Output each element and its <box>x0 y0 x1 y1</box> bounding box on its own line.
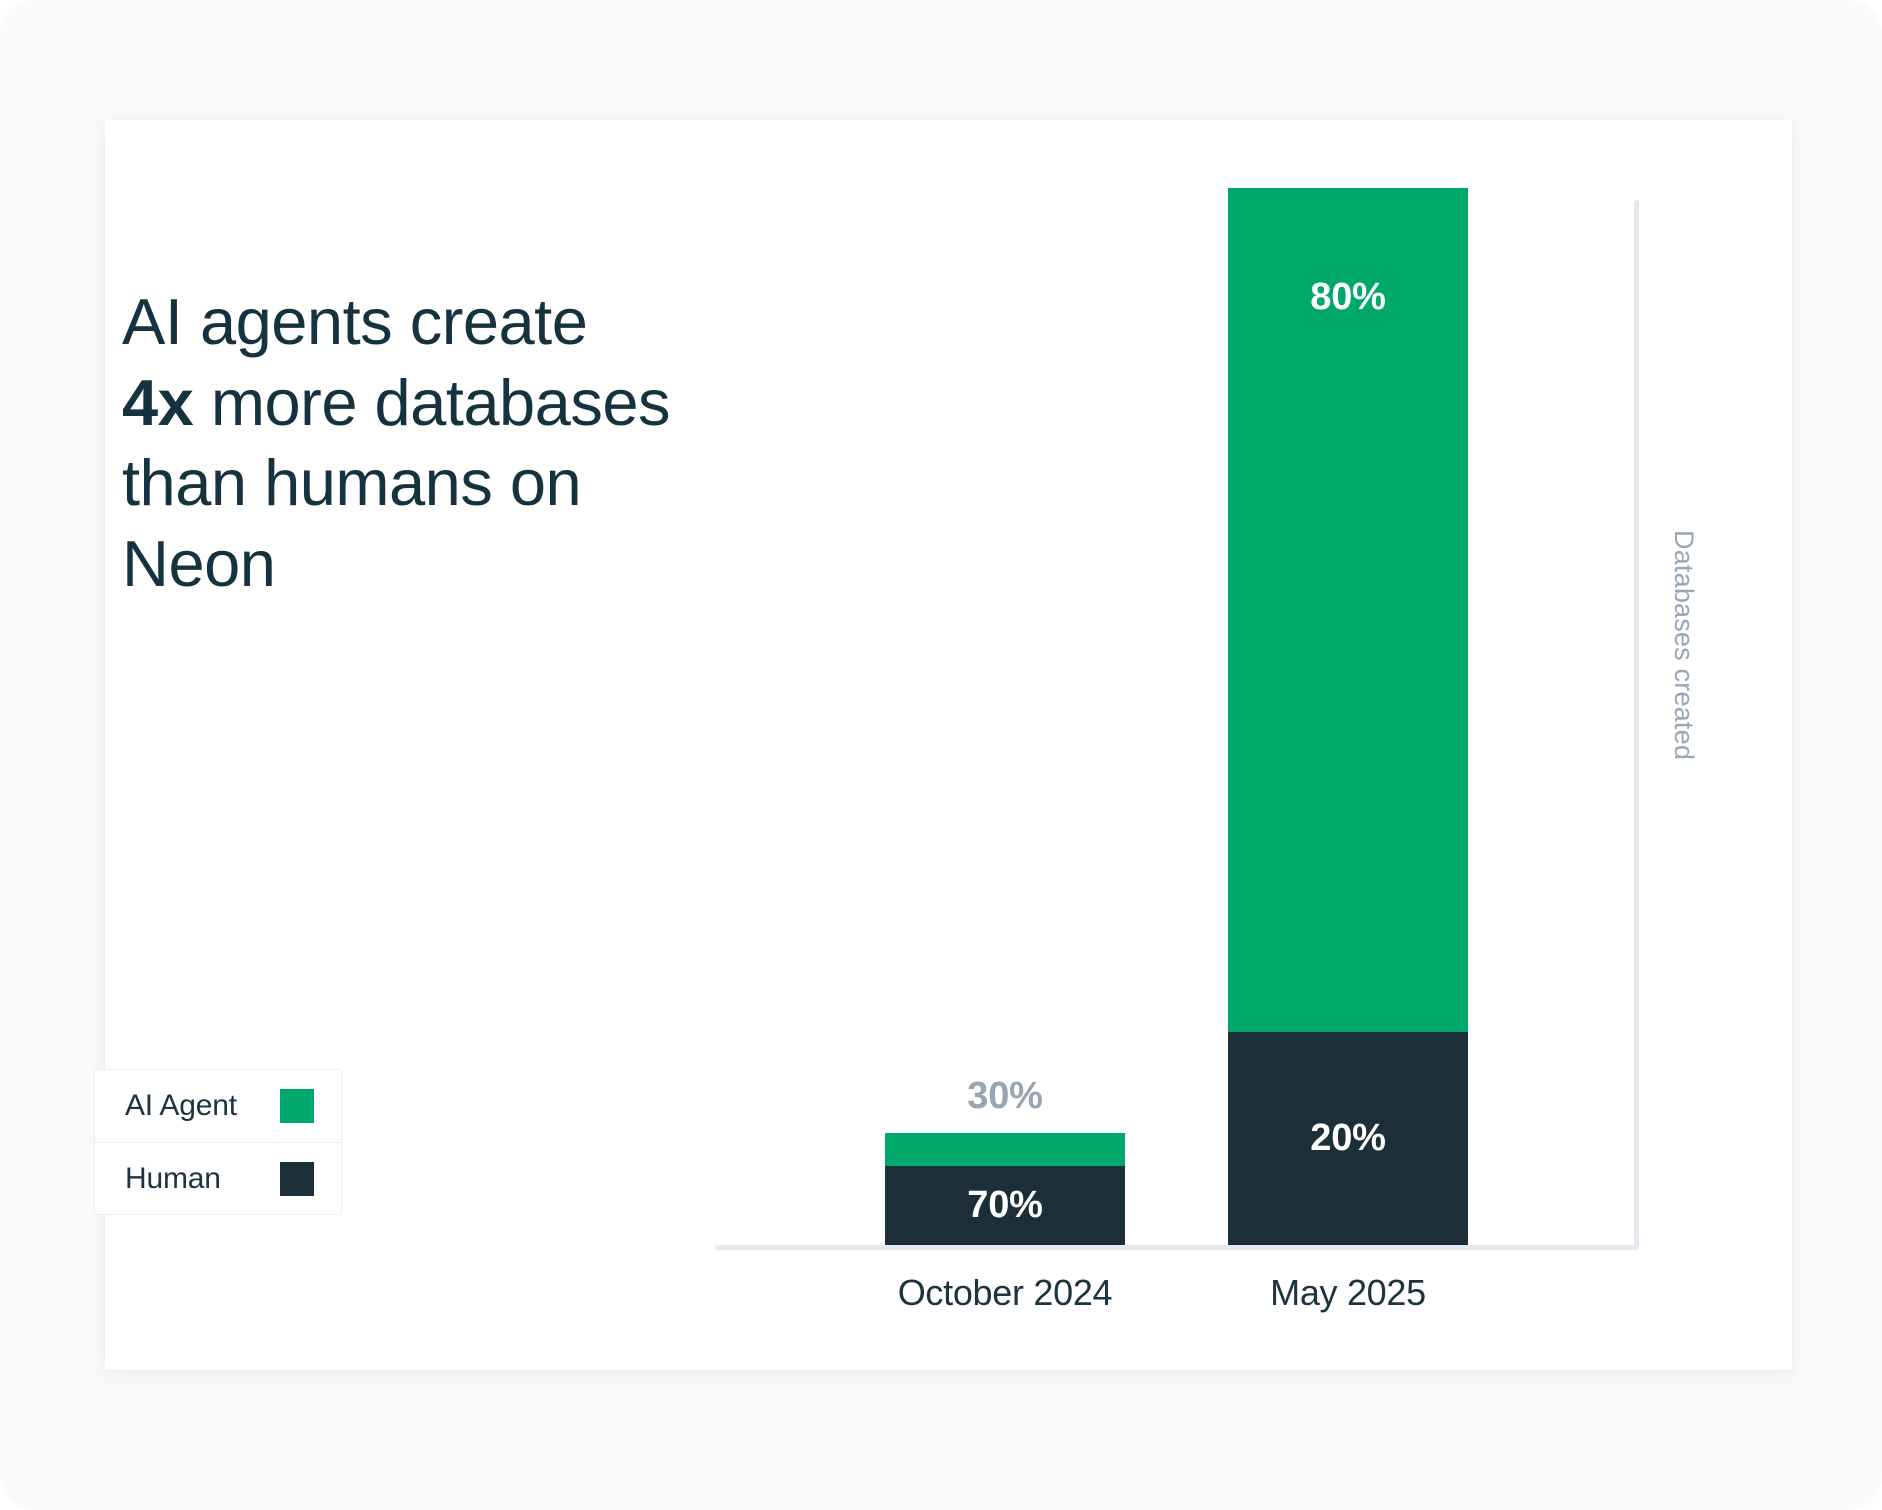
headline-line-2-text: more databases <box>193 366 670 439</box>
headline-line-4: Neon <box>122 524 902 605</box>
page-surface: AI agents create 4x more databases than … <box>0 0 1882 1510</box>
legend-label-human: Human <box>125 1162 221 1196</box>
legend-item-ai-agent[interactable]: AI Agent <box>95 1070 341 1142</box>
legend-swatch-human-icon <box>280 1162 314 1196</box>
legend-swatch-ai-agent-icon <box>280 1089 314 1123</box>
headline-line-1: AI agents create <box>122 282 902 363</box>
headline-emphasis: 4x <box>122 366 193 439</box>
headline-line-3: than humans on <box>122 443 902 524</box>
legend-item-human[interactable]: Human <box>95 1142 341 1214</box>
headline-line-3-text: than humans on <box>122 446 581 519</box>
headline-line-2: 4x more databases <box>122 363 902 444</box>
page-title: AI agents create 4x more databases than … <box>122 282 902 604</box>
headline-line-4-text: Neon <box>122 527 275 600</box>
legend-label-ai-agent: AI Agent <box>125 1089 237 1123</box>
chart-legend: AI Agent Human <box>94 1069 342 1215</box>
headline-line-1-text: AI agents create <box>122 285 587 358</box>
